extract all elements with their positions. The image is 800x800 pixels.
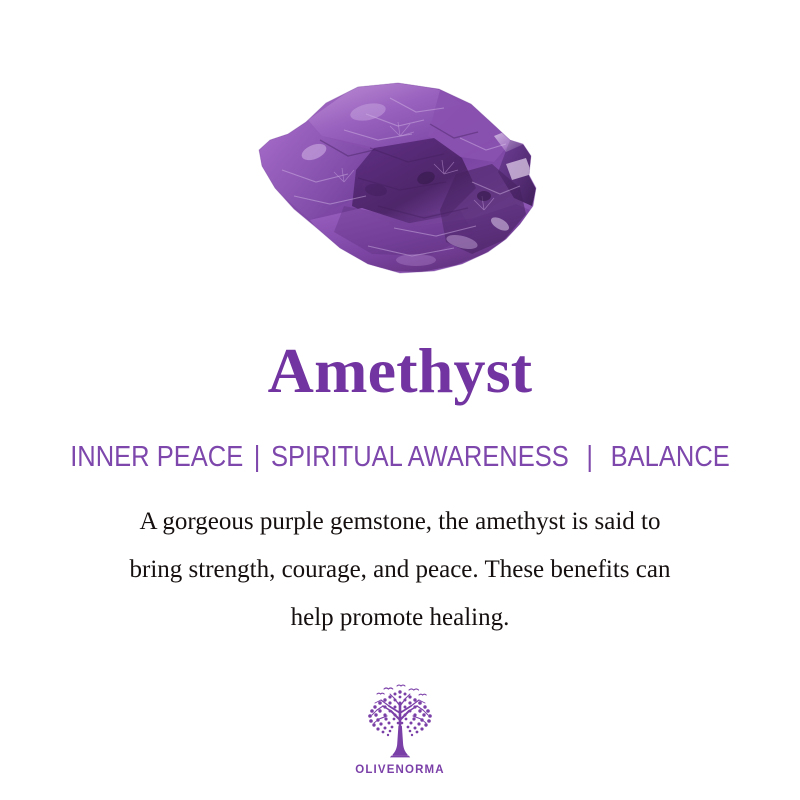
amethyst-crystal-icon xyxy=(248,78,552,294)
description-line: help promote healing. xyxy=(50,594,750,642)
keyword-separator-1: | xyxy=(254,438,261,476)
brand-logo: OLIVENORMA xyxy=(0,682,800,776)
keyword-balance: BALANCE xyxy=(611,441,730,473)
amethyst-info-card: Amethyst INNER PEACE|SPIRITUAL AWARENESS… xyxy=(0,0,800,800)
keyword-inner-peace: INNER PEACE xyxy=(70,441,243,473)
keyword-list: INNER PEACE|SPIRITUAL AWARENESS|BALANCE xyxy=(48,438,752,476)
description-text: A gorgeous purple gemstone, the amethyst… xyxy=(50,498,750,642)
brand-name: OLIVENORMA xyxy=(0,764,800,776)
keyword-spiritual-awareness: SPIRITUAL AWARENESS xyxy=(271,441,569,473)
description-line: bring strength, courage, and peace. Thes… xyxy=(50,546,750,594)
page-title: Amethyst xyxy=(0,334,800,408)
description-line: A gorgeous purple gemstone, the amethyst… xyxy=(50,498,750,546)
tree-of-life-icon xyxy=(353,682,447,762)
hero-image-region xyxy=(0,0,800,320)
keyword-separator-2: | xyxy=(586,438,593,476)
